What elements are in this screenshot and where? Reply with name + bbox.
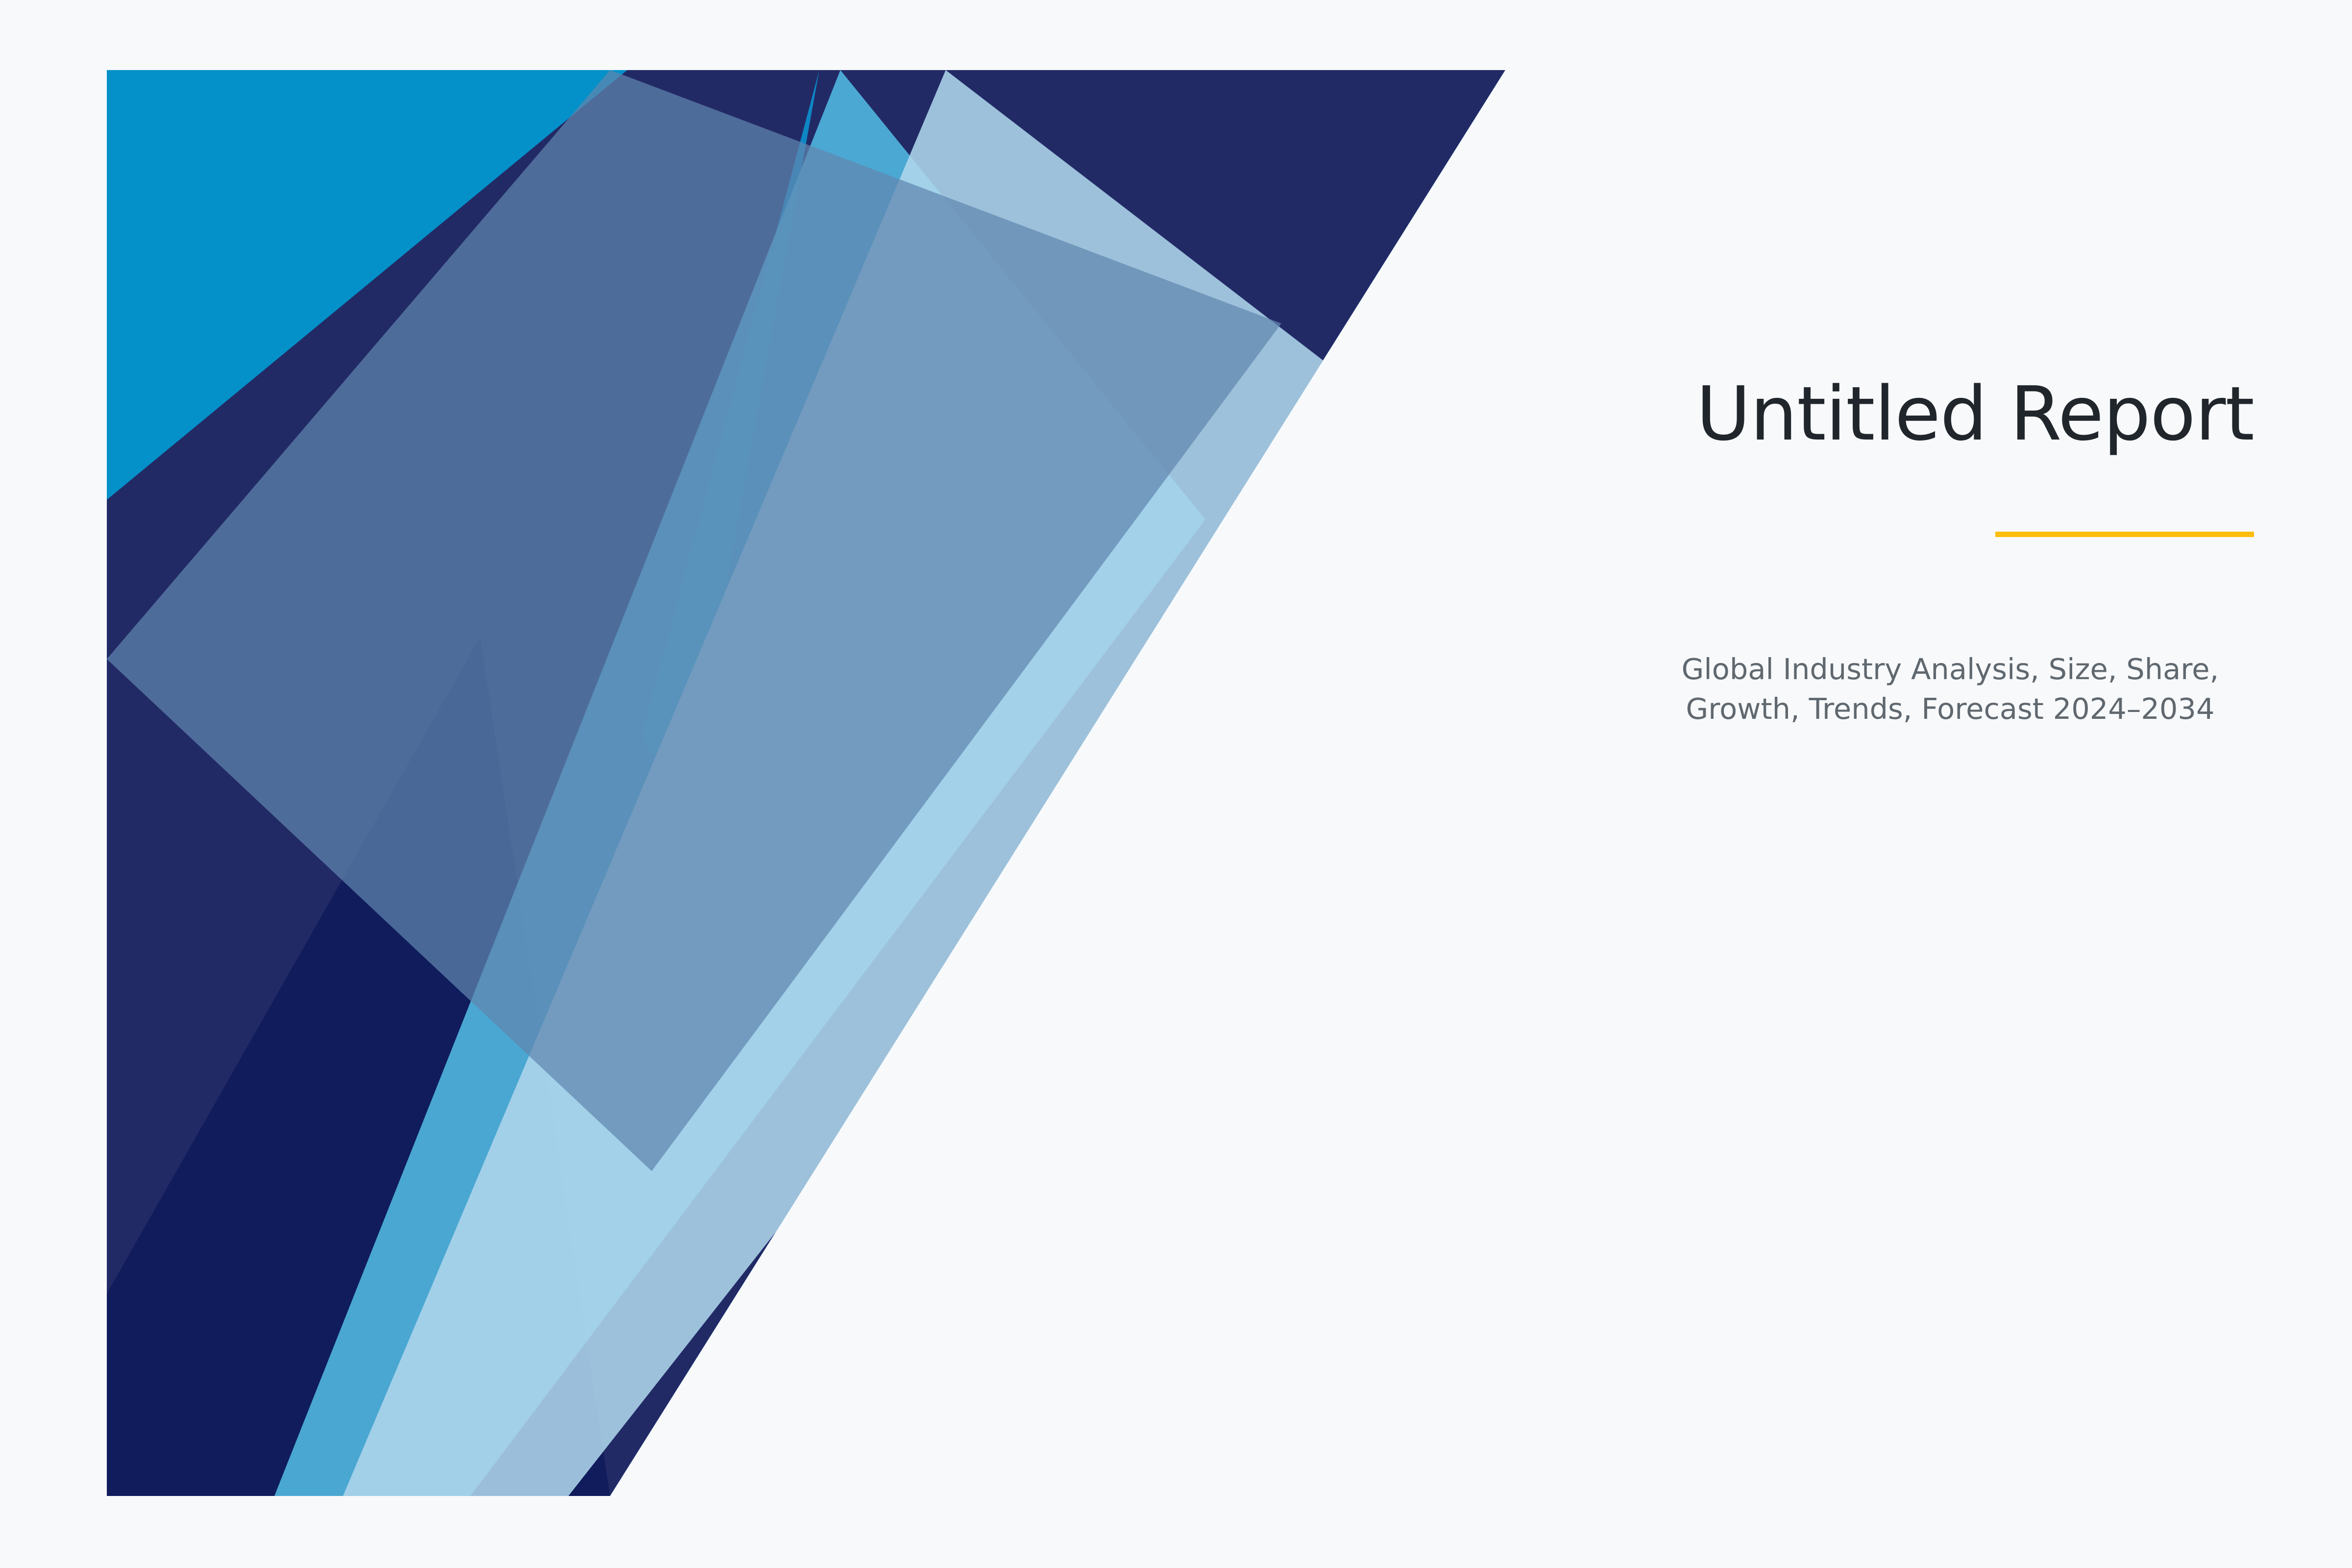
title-panel: Untitled Report Global Industry Analysis… xyxy=(1568,0,2352,1568)
title-accent-rule xyxy=(1995,532,2254,537)
page-subtitle: Global Industry Analysis, Size, Share, G… xyxy=(1646,649,2254,729)
cover-artwork xyxy=(0,0,1568,1568)
abstract-angular-cover-graphic xyxy=(0,0,1568,1568)
report-cover-page: Untitled Report Global Industry Analysis… xyxy=(0,0,2352,1568)
page-title: Untitled Report xyxy=(1617,372,2254,456)
